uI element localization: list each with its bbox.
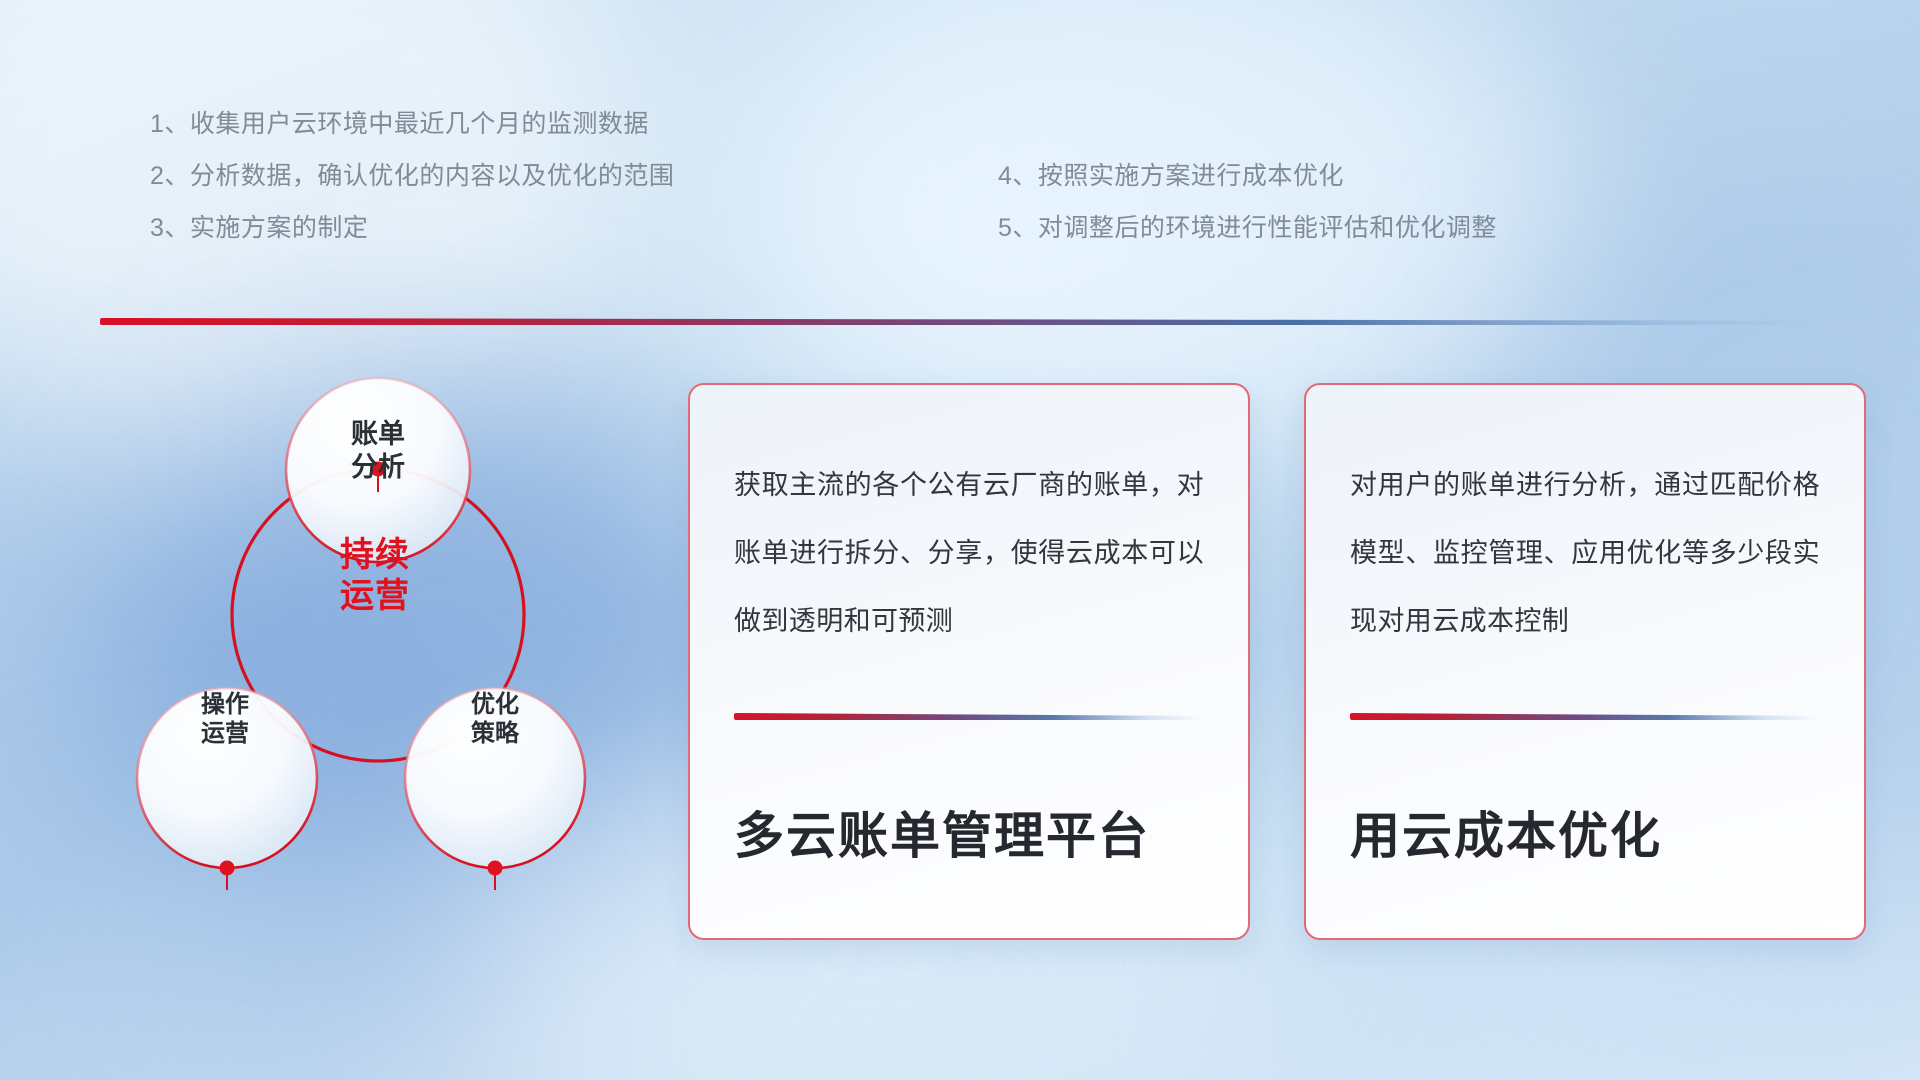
card-accent-rule xyxy=(1350,713,1820,720)
venn-node-top xyxy=(371,462,386,477)
card-body-text: 对用户的账单进行分析，通过匹配价格模型、监控管理、应用优化等多少段实现对用云成本… xyxy=(1350,451,1820,655)
bullet-item: 5、对调整后的环境进行性能评估和优化调整 xyxy=(998,202,1497,254)
venn-circle-right xyxy=(405,688,585,868)
venn-node-left xyxy=(220,861,235,876)
card-accent-rule xyxy=(734,713,1204,720)
bullet-item: 1、收集用户云环境中最近几个月的监测数据 xyxy=(150,98,674,150)
venn-diagram: 账单 分析 操作 运营 优化 策略 持续 运营 xyxy=(95,360,635,940)
bullet-item: 3、实施方案的制定 xyxy=(150,202,674,254)
feature-card-multicloud-billing[interactable]: 获取主流的各个公有云厂商的账单，对账单进行拆分、分享，使得云成本可以做到透明和可… xyxy=(688,383,1250,940)
bullet-item: 4、按照实施方案进行成本优化 xyxy=(998,150,1497,202)
section-divider xyxy=(100,318,1818,325)
feature-card-cloud-cost-optimization[interactable]: 对用户的账单进行分析，通过匹配价格模型、监控管理、应用优化等多少段实现对用云成本… xyxy=(1304,383,1866,940)
bullet-list-right: 4、按照实施方案进行成本优化 5、对调整后的环境进行性能评估和优化调整 xyxy=(998,150,1497,254)
card-title: 多云账单管理平台 xyxy=(734,796,1204,868)
slide-canvas: 1、收集用户云环境中最近几个月的监测数据 2、分析数据，确认优化的内容以及优化的… xyxy=(0,0,1920,1080)
card-body-text: 获取主流的各个公有云厂商的账单，对账单进行拆分、分享，使得云成本可以做到透明和可… xyxy=(734,451,1204,655)
venn-node-right xyxy=(488,861,503,876)
venn-svg xyxy=(95,360,635,940)
bullet-item: 2、分析数据，确认优化的内容以及优化的范围 xyxy=(150,150,674,202)
bullet-list-left: 1、收集用户云环境中最近几个月的监测数据 2、分析数据，确认优化的内容以及优化的… xyxy=(150,98,674,254)
card-title: 用云成本优化 xyxy=(1350,796,1820,868)
venn-circle-left xyxy=(137,688,317,868)
